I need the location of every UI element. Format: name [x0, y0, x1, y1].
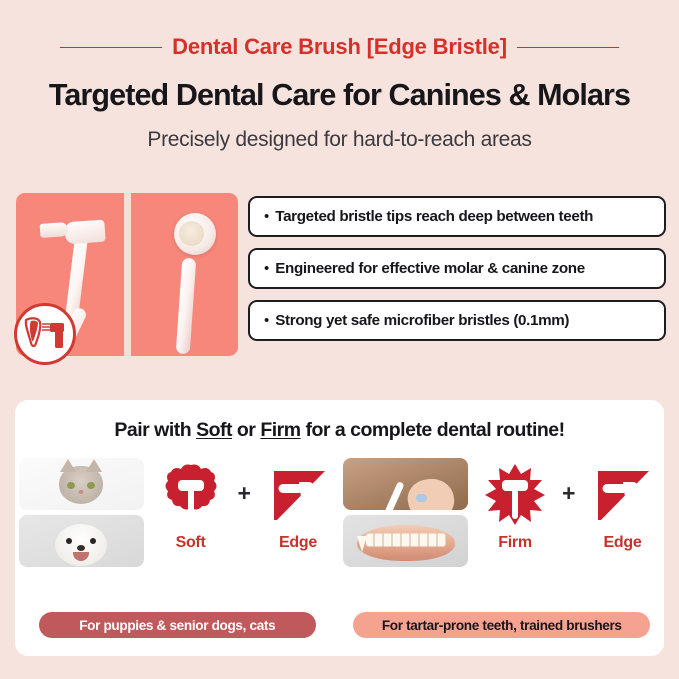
teeth-row-illustration [366, 533, 446, 546]
fingernail-icon [416, 494, 427, 502]
plus-sign: + [238, 480, 251, 507]
tooth-and-brush-badge [14, 303, 76, 365]
eyebrow-text: Dental Care Brush [Edge Bristle] [172, 34, 507, 60]
bullet-icon: • [264, 313, 269, 328]
combo-firm-edge: Firm + Edge [340, 458, 665, 567]
pairing-title-middle: or [232, 419, 260, 441]
dog-mouth-icon [73, 552, 89, 561]
pairing-card: Pair with Soft or Firm for a complete de… [15, 400, 664, 656]
canine-tooth-icon [357, 536, 367, 552]
cat-nose-icon [79, 490, 84, 494]
panel-divider [124, 193, 131, 356]
bullet-icon: • [264, 209, 269, 224]
cat-face-illustration [59, 466, 103, 504]
pill-wrap-firm: For tartar-prone teeth, trained brushers [340, 612, 665, 638]
cat-ear-right-icon [86, 459, 102, 472]
edge-icon-column: Edge [260, 458, 336, 552]
soft-icon-column: Soft [153, 458, 229, 552]
feature-text: Targeted bristle tips reach deep between… [275, 208, 593, 225]
pairing-title-prefix: Pair with [114, 419, 196, 441]
edge-icon-column: Edge [584, 458, 660, 552]
dog-nose-icon [77, 545, 85, 551]
edge-icon-label: Edge [279, 534, 317, 552]
page-title: Targeted Dental Care for Canines & Molar… [0, 78, 679, 113]
firm-icon-column: Firm [477, 458, 553, 552]
pairing-title-soft: Soft [196, 419, 232, 441]
product-top-view [131, 193, 239, 356]
brush-bristle-tip-shape [39, 222, 68, 238]
feature-item: • Targeted bristle tips reach deep betwe… [248, 196, 666, 237]
dog-eye-right-icon [90, 538, 96, 544]
brush-handle-top-shape [176, 258, 197, 355]
feature-text: Strong yet safe microfiber bristles (0.1… [275, 312, 569, 329]
eyebrow-rule-left [60, 47, 162, 48]
feature-text: Engineered for effective molar & canine … [275, 260, 585, 277]
firm-brush-icon [482, 462, 548, 528]
tooth-and-brush-icon [22, 314, 68, 354]
bullet-icon: • [264, 261, 269, 276]
feature-item: • Engineered for effective molar & canin… [248, 248, 666, 289]
brushing-dog-photo-thumbnail [343, 458, 468, 510]
pill-row: For puppies & senior dogs, cats For tart… [15, 612, 664, 638]
dog-teeth-photo-thumbnail [343, 515, 468, 567]
audience-badge-soft: For puppies & senior dogs, cats [39, 612, 316, 638]
pomeranian-photo-thumbnail [19, 515, 144, 567]
plus-sign: + [562, 480, 575, 507]
edge-brush-icon [589, 462, 655, 528]
combo-soft-edge: Soft + Edge [15, 458, 340, 567]
soft-icon-label: Soft [176, 534, 206, 552]
dog-eye-left-icon [66, 538, 72, 544]
cat-ear-left-icon [60, 459, 76, 472]
pill-wrap-soft: For puppies & senior dogs, cats [15, 612, 340, 638]
cat-eye-left-icon [67, 482, 75, 489]
eyebrow-banner: Dental Care Brush [Edge Bristle] [0, 32, 679, 62]
audience-badge-firm: For tartar-prone teeth, trained brushers [353, 612, 650, 638]
edge-brush-icon [265, 462, 331, 528]
cat-photo-thumbnail [19, 458, 144, 510]
brush-head-shape [65, 219, 106, 244]
feature-list: • Targeted bristle tips reach deep betwe… [248, 196, 666, 341]
eyebrow-rule-right [517, 47, 619, 48]
page-subtitle: Precisely designed for hard-to-reach are… [0, 128, 679, 152]
pairing-title: Pair with Soft or Firm for a complete de… [15, 419, 664, 442]
thumbnail-stack [343, 458, 468, 567]
combo-row: Soft + Edge [15, 458, 664, 567]
brush-bristle-cluster-shape [179, 221, 204, 246]
cat-eye-right-icon [87, 482, 95, 489]
edge-icon-label: Edge [604, 534, 642, 552]
hand-illustration [405, 475, 458, 510]
feature-item: • Strong yet safe microfiber bristles (0… [248, 300, 666, 341]
dog-face-illustration [55, 524, 107, 566]
thumbnail-stack [19, 458, 144, 567]
pairing-title-suffix: for a complete dental routine! [301, 419, 565, 441]
soft-brush-icon [158, 462, 224, 528]
pairing-title-firm: Firm [260, 419, 300, 441]
brush-illustration [384, 481, 404, 510]
firm-icon-label: Firm [498, 534, 531, 552]
